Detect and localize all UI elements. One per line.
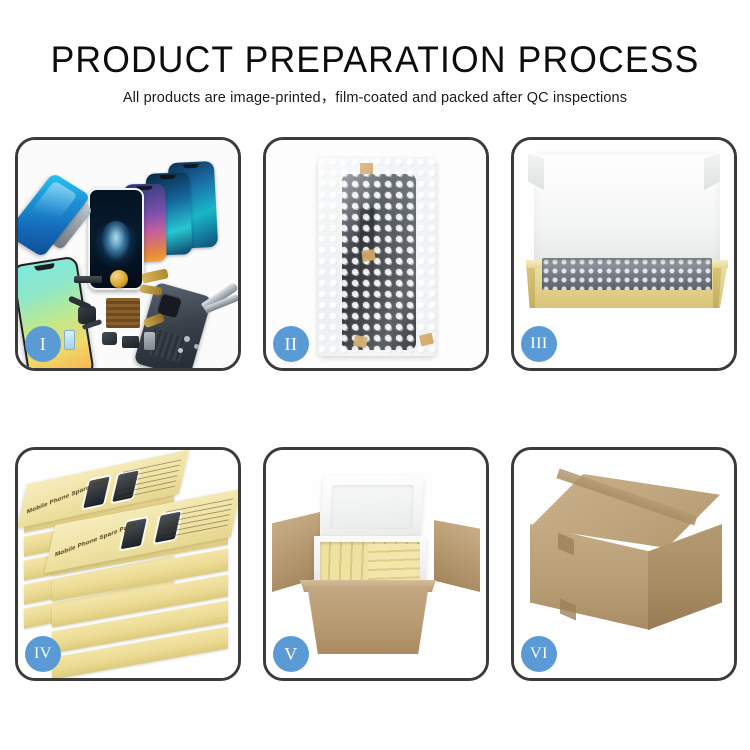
tape-strip-middle [361, 249, 375, 262]
page-title: PRODUCT PREPARATION PROCESS [15, 38, 735, 82]
phone-notch [183, 164, 199, 169]
step-badge-5: V [273, 636, 309, 672]
spare-part-chip-grid [106, 298, 140, 328]
bubble-texture [318, 158, 436, 356]
spare-part-screw-1 [184, 336, 190, 342]
phone-notch [34, 263, 55, 271]
foam-box-lid-image [320, 476, 423, 538]
spare-part-screw-3 [178, 348, 183, 353]
step-panel-5: V [263, 447, 489, 681]
bubble-wrap-bag-image [318, 158, 436, 356]
step-panel-1: I [15, 137, 241, 371]
step-badge-2: II [273, 326, 309, 362]
spare-part-screw-2 [194, 344, 199, 349]
step-panel-4: Mobile Phone Spare Parts Mobile Phone Sp… [15, 447, 241, 681]
bubble-wrapped-contents-image [542, 258, 712, 290]
header: PRODUCT PREPARATION PROCESS All products… [0, 38, 750, 108]
step-badge-3: III [521, 326, 557, 362]
step-panel-2: II [263, 137, 489, 371]
spare-part-bracket [74, 276, 102, 283]
wallpaper-glow [101, 221, 131, 261]
step-badge-6: VI [521, 636, 557, 672]
step-badge-4: IV [25, 636, 61, 672]
step-panel-6: VI [511, 447, 737, 681]
tape-strip-top [360, 163, 373, 174]
box-spec-lines-front [160, 499, 234, 543]
step-badge-1: I [25, 326, 61, 362]
yellow-boxes-inside-secondary [368, 544, 420, 584]
phone-notch [160, 175, 176, 180]
tape-strip-bottom-left [353, 335, 368, 348]
product-preparation-infographic: PRODUCT PREPARATION PROCESS All products… [0, 0, 750, 750]
box-spec-lines-back [116, 459, 181, 500]
carton-flap-right [434, 520, 480, 592]
spare-part-camera-module-2 [102, 332, 117, 345]
spare-part-speaker [122, 336, 139, 348]
spare-part-sim-tray [144, 332, 155, 350]
page-subtitle: All products are image-printed，film-coat… [0, 89, 750, 108]
box-white-lid-image [534, 154, 720, 268]
carton-body-image [302, 586, 434, 654]
steps-grid: I II [15, 137, 737, 681]
spare-part-battery [64, 330, 75, 350]
step-panel-3: III [511, 137, 737, 371]
spare-part-speaker-coil [110, 270, 128, 288]
